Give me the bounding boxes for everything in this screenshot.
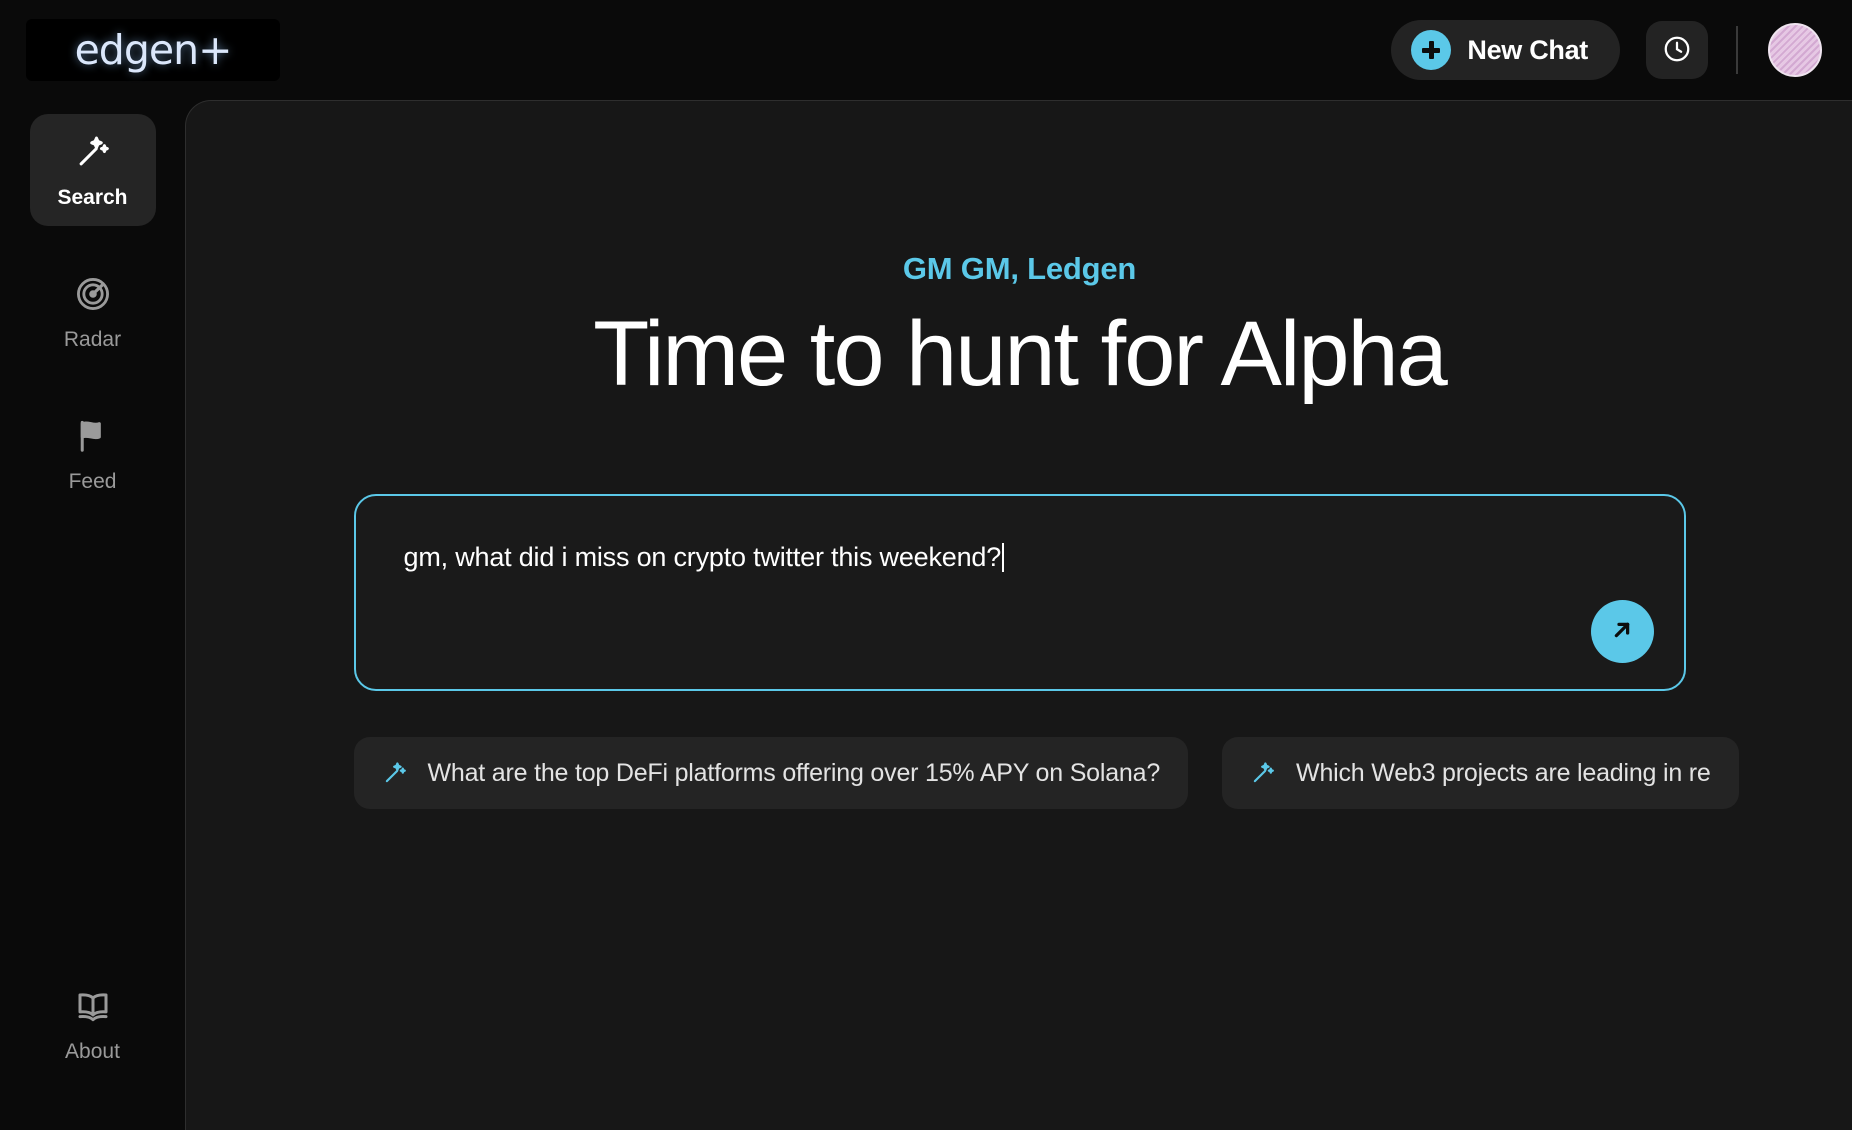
sidebar-item-label: Radar — [64, 328, 121, 352]
prompt-composer[interactable]: gm, what did i miss on crypto twitter th… — [354, 494, 1686, 691]
sidebar-item-label: Search — [57, 186, 127, 210]
plus-circle-icon — [1411, 30, 1451, 70]
new-chat-button[interactable]: New Chat — [1391, 20, 1620, 80]
suggestion-chip[interactable]: What are the top DeFi platforms offering… — [354, 737, 1189, 809]
magic-wand-icon — [74, 132, 112, 172]
magic-wand-icon — [1250, 760, 1276, 786]
suggestion-chip[interactable]: Which Web3 projects are leading in re — [1222, 737, 1739, 809]
prompt-input-value: gm, what did i miss on crypto twitter th… — [404, 542, 1002, 572]
radar-icon — [74, 274, 112, 314]
greeting-text: GM GM, Ledgen — [903, 251, 1136, 287]
avatar[interactable] — [1768, 23, 1822, 77]
top-bar: edgen+ New Chat — [0, 0, 1852, 100]
sidebar-item-about[interactable]: About — [30, 968, 156, 1080]
app-root: edgen+ New Chat — [0, 0, 1852, 1130]
flag-icon — [74, 416, 112, 456]
sidebar-item-label: About — [65, 1040, 120, 1064]
new-chat-label: New Chat — [1467, 35, 1588, 66]
clock-icon — [1662, 34, 1692, 67]
suggestion-chip-label: Which Web3 projects are leading in re — [1296, 759, 1711, 788]
top-bar-actions: New Chat — [1391, 20, 1852, 80]
text-caret — [1002, 543, 1004, 572]
book-icon — [73, 986, 113, 1026]
sidebar-item-search[interactable]: Search — [30, 114, 156, 226]
sidebar-item-radar[interactable]: Radar — [30, 256, 156, 368]
suggestion-chip-label: What are the top DeFi platforms offering… — [428, 759, 1161, 788]
content-column: GM GM, Ledgen Time to hunt for Alpha gm,… — [186, 101, 1852, 809]
logo-text: edgen+ — [75, 26, 232, 74]
sidebar-item-feed[interactable]: Feed — [30, 398, 156, 510]
suggestion-chips: What are the top DeFi platforms offering… — [354, 737, 1686, 809]
send-button[interactable] — [1591, 600, 1654, 663]
sidebar: Search Radar Feed — [0, 100, 185, 1130]
sidebar-item-label: Feed — [69, 470, 117, 494]
prompt-input[interactable]: gm, what did i miss on crypto twitter th… — [404, 542, 1005, 573]
page-title: Time to hunt for Alpha — [593, 305, 1446, 404]
history-button[interactable] — [1646, 21, 1708, 79]
topbar-divider — [1736, 26, 1738, 74]
magic-wand-icon — [382, 760, 408, 786]
app-logo[interactable]: edgen+ — [26, 19, 280, 81]
arrow-up-right-icon — [1607, 615, 1637, 648]
main-panel: GM GM, Ledgen Time to hunt for Alpha gm,… — [185, 100, 1852, 1130]
